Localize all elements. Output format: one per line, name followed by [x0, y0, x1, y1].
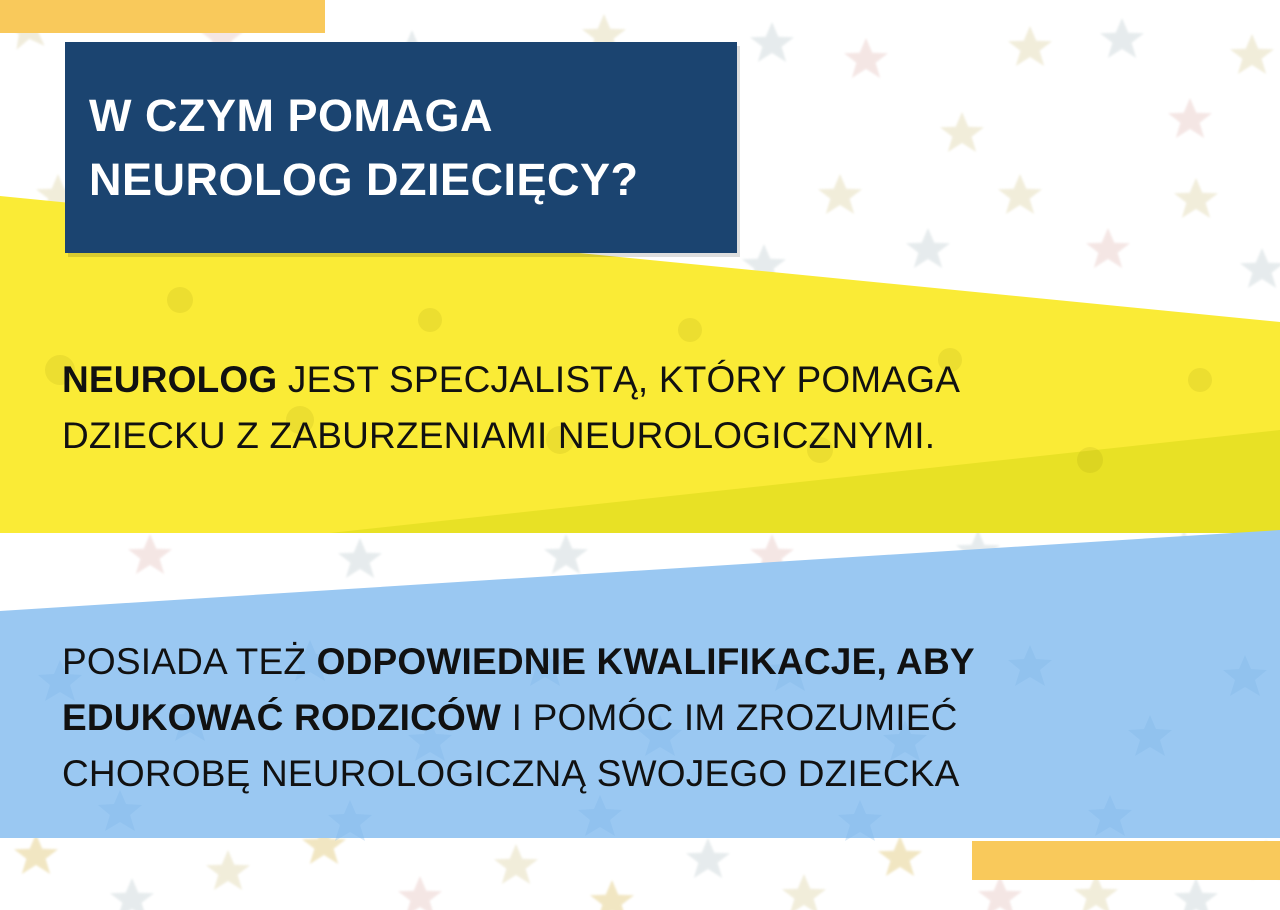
blue-text-line-2: EDUKOWAĆ RODZICÓW I POMÓC IM ZROZUMIEĆ: [62, 690, 975, 746]
yellow-text-line-1: NEUROLOG JEST SPECJALISTĄ, KTÓRY POMAGA: [62, 352, 960, 408]
page-title-line-1: W CZYM POMAGA: [89, 84, 737, 148]
blue-text-bold-1: ODPOWIEDNIE KWALIFIKACJE, ABY: [317, 641, 975, 682]
yellow-panel-text: NEUROLOG JEST SPECJALISTĄ, KTÓRY POMAGA …: [62, 352, 960, 464]
orange-accent-top-bar: [0, 0, 325, 33]
blue-text-bold-2: EDUKOWAĆ RODZICÓW: [62, 697, 501, 738]
orange-accent-bottom-bar: [972, 841, 1280, 880]
page-title-line-2: NEUROLOG DZIECIĘCY?: [89, 148, 737, 212]
blue-text-line-1: POSIADA TEŻ ODPOWIEDNIE KWALIFIKACJE, AB…: [62, 634, 975, 690]
blue-panel-text: POSIADA TEŻ ODPOWIEDNIE KWALIFIKACJE, AB…: [62, 634, 975, 803]
yellow-text-line-2: DZIECKU Z ZABURZENIAMI NEUROLOGICZNYMI.: [62, 408, 960, 464]
blue-text-line-3: CHOROBĘ NEUROLOGICZNĄ SWOJEGO DZIECKA: [62, 746, 975, 802]
blue-text-suffix: I POMÓC IM ZROZUMIEĆ: [501, 697, 957, 738]
yellow-text-bold-neurolog: NEUROLOG: [62, 359, 277, 400]
infographic-poster: W CZYM POMAGA NEUROLOG DZIECIĘCY? NEUROL…: [0, 0, 1280, 910]
title-card: W CZYM POMAGA NEUROLOG DZIECIĘCY?: [65, 42, 737, 253]
blue-text-prefix: POSIADA TEŻ: [62, 641, 317, 682]
yellow-text-rest-1: JEST SPECJALISTĄ, KTÓRY POMAGA: [277, 359, 960, 400]
